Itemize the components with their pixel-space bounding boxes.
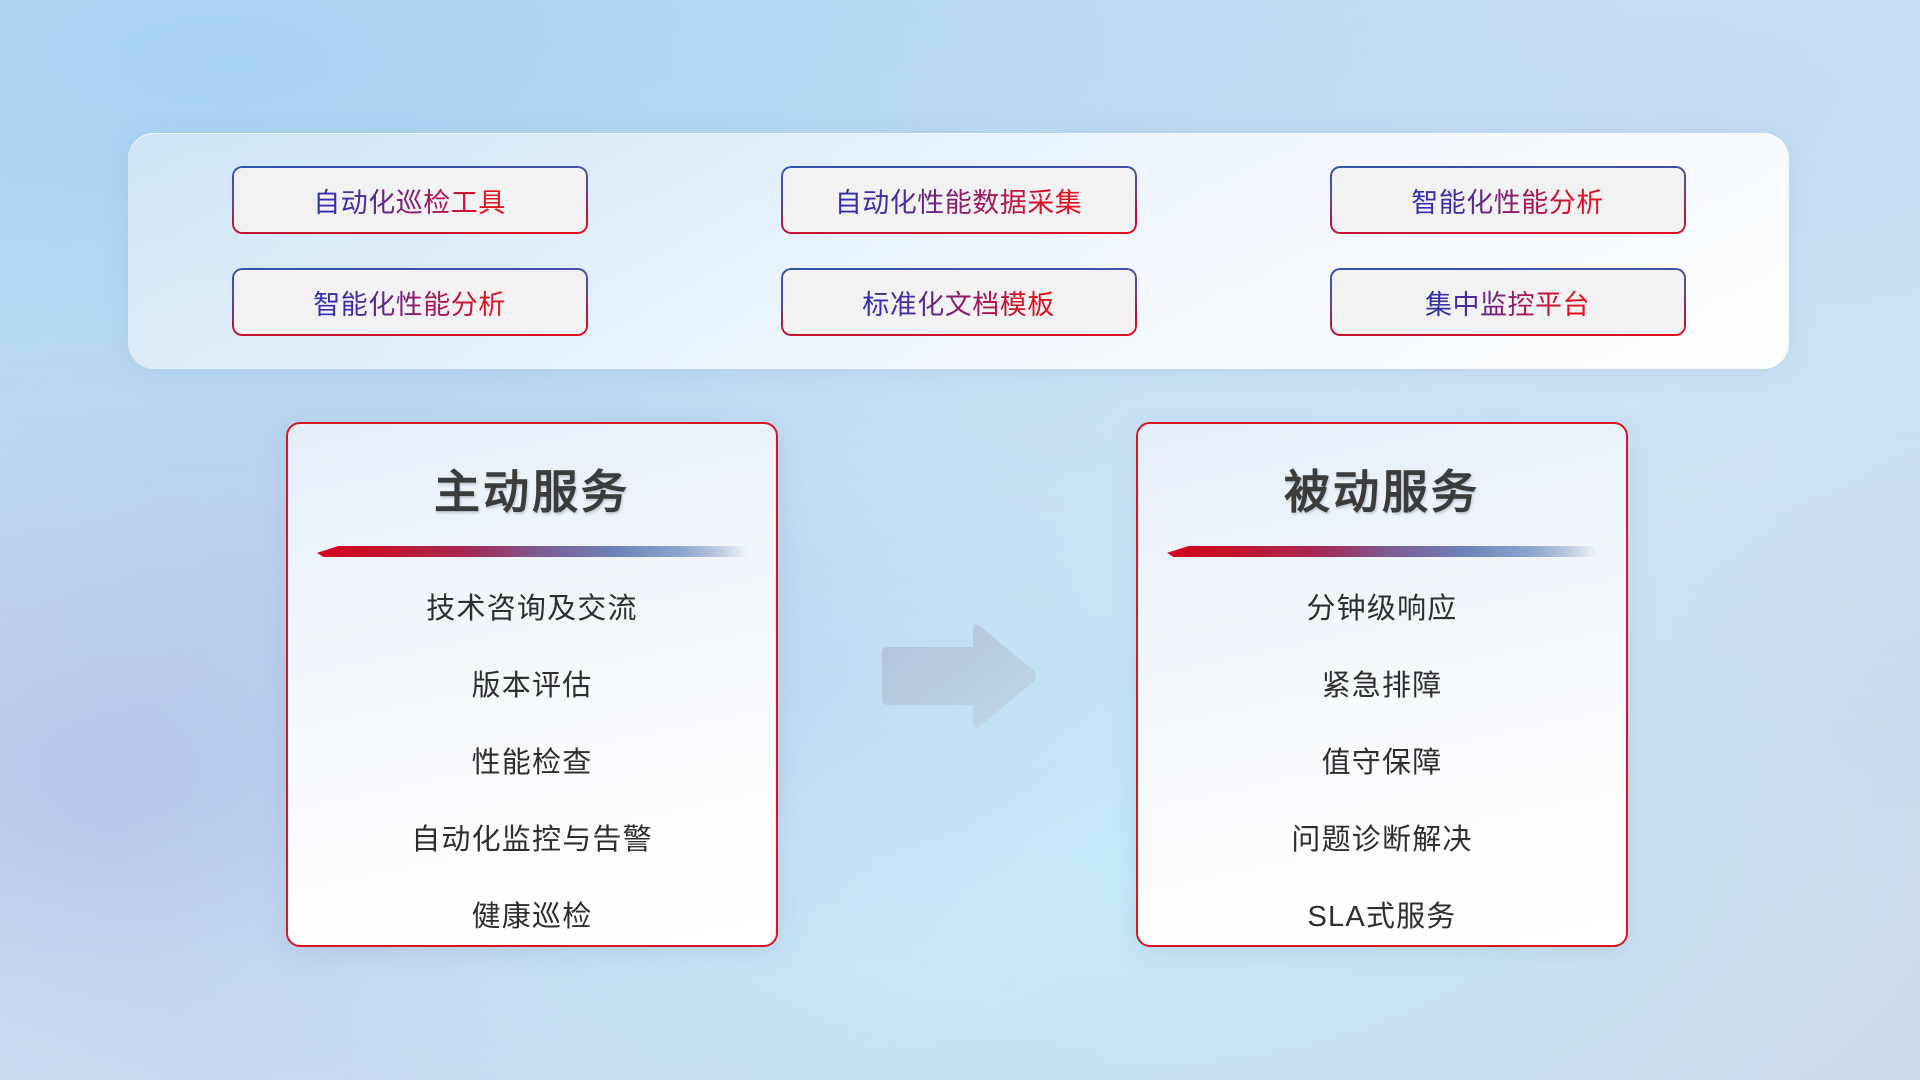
service-item: 自动化监控与告警: [288, 826, 776, 855]
capability-pill[interactable]: 自动化巡检工具: [232, 166, 588, 234]
slide-stage: 自动化巡检工具 自动化性能数据采集 智能化性能分析 智能化性能分析 标准化文档模…: [0, 0, 1920, 1080]
capability-panel: 自动化巡检工具 自动化性能数据采集 智能化性能分析 智能化性能分析 标准化文档模…: [128, 133, 1789, 369]
service-item: SLA式服务: [1138, 903, 1626, 932]
capability-pill-label: 自动化巡检工具: [313, 181, 506, 220]
service-item: 紧急排障: [1138, 672, 1626, 701]
capability-pill[interactable]: 集中监控平台: [1330, 268, 1686, 336]
service-item: 技术咨询及交流: [288, 595, 776, 624]
card-title: 被动服务: [1138, 456, 1626, 522]
title-divider: [317, 546, 747, 557]
service-item-list: 技术咨询及交流 版本评估 性能检查 自动化监控与告警 健康巡检: [288, 595, 776, 932]
capability-pill[interactable]: 智能化性能分析: [1330, 166, 1686, 234]
capability-pill-label: 标准化文档模板: [862, 283, 1055, 322]
service-item: 值守保障: [1138, 749, 1626, 778]
service-item-list: 分钟级响应 紧急排障 值守保障 问题诊断解决 SLA式服务: [1138, 595, 1626, 932]
service-item: 性能检查: [288, 749, 776, 778]
capability-pill-label: 集中监控平台: [1425, 283, 1590, 322]
service-card-proactive: 主动服务 技术咨询及交流 版本评估 性能检查 自动化监控与告警 健康巡检: [286, 422, 778, 947]
service-card-reactive: 被动服务 分钟级响应 紧急排障 值守保障 问题诊断解决 SLA式服务: [1136, 422, 1628, 947]
service-item: 分钟级响应: [1138, 595, 1626, 624]
capability-pill[interactable]: 智能化性能分析: [232, 268, 588, 336]
card-title: 主动服务: [288, 456, 776, 522]
service-item: 健康巡检: [288, 903, 776, 932]
capability-pill-label: 智能化性能分析: [1411, 181, 1604, 220]
capability-pill-label: 自动化性能数据采集: [835, 181, 1083, 220]
arrow-right-icon: [876, 620, 1040, 732]
title-divider: [1167, 546, 1597, 557]
capability-pill[interactable]: 标准化文档模板: [781, 268, 1137, 336]
capability-pill-label: 智能化性能分析: [313, 283, 506, 322]
capability-pill[interactable]: 自动化性能数据采集: [781, 166, 1137, 234]
service-item: 问题诊断解决: [1138, 826, 1626, 855]
service-item: 版本评估: [288, 672, 776, 701]
